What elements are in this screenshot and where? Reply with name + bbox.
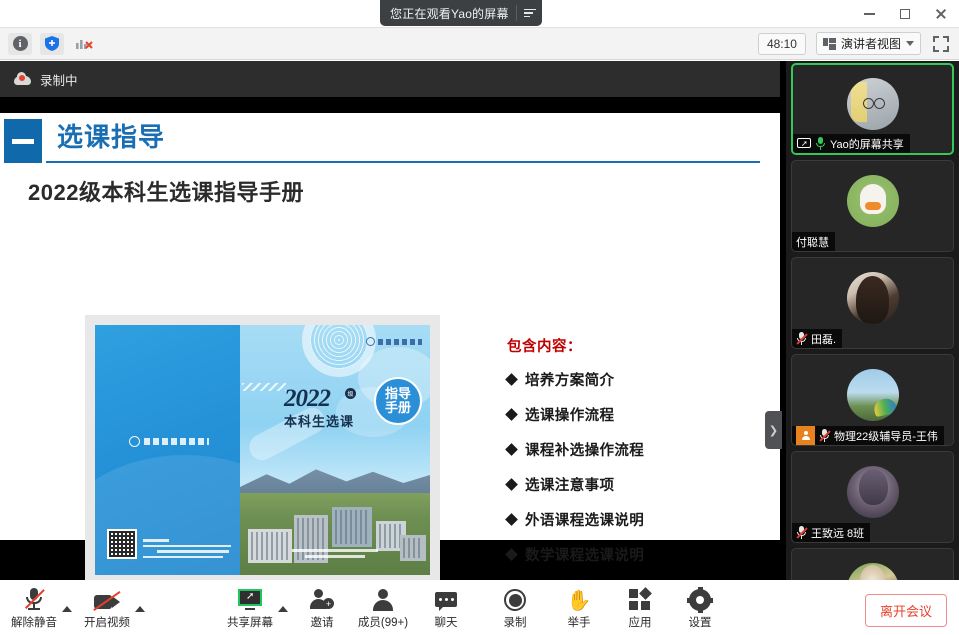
list-menu-icon[interactable]: [524, 9, 536, 18]
list-item-label: 课程补选操作流程: [525, 439, 644, 460]
leave-meeting-button[interactable]: 离开会议: [865, 594, 947, 627]
participants-video-strip[interactable]: ➚ Yao的屏幕共享 付聪慧 田磊.: [786, 61, 959, 580]
cover-year: 2022: [284, 385, 330, 413]
title-rule: [46, 161, 760, 163]
meeting-toolbar: i 48:10 演讲者视图: [0, 28, 959, 60]
divider: [516, 5, 517, 21]
camera-off-icon: [94, 587, 120, 611]
share-screen-icon: ➚: [238, 587, 262, 611]
settings-label: 设置: [689, 614, 712, 630]
share-options-caret-icon[interactable]: [278, 606, 288, 612]
shield-icon: [45, 36, 59, 51]
video-options-caret-icon[interactable]: [135, 606, 145, 612]
microphone-muted-icon: [819, 429, 830, 442]
close-button[interactable]: [923, 0, 959, 28]
participant-tile[interactable]: 付聪慧: [791, 160, 954, 252]
record-button[interactable]: 录制: [483, 587, 547, 630]
participant-name: Yao的屏幕共享: [830, 136, 904, 152]
qr-code-icon: [107, 529, 137, 559]
presentation-slide: 选课指导 2022级本科生选课指导手册: [0, 113, 780, 540]
avatar: [847, 78, 899, 130]
raise-hand-icon: ✋: [567, 587, 592, 611]
university-logo-icon: [129, 435, 209, 447]
view-mode-label: 演讲者视图: [841, 35, 901, 52]
list-item-label: 选课注意事项: [525, 474, 614, 495]
list-item: 培养方案简介: [507, 369, 769, 390]
handbook-cover-image: 2022 级 本科生选课 指导 手册: [85, 315, 440, 585]
avatar: [847, 272, 899, 324]
participant-nametag: 物理22级辅导员-王伟: [792, 426, 944, 445]
list-item: 课程补选操作流程: [507, 439, 769, 460]
participant-tile[interactable]: 王致远 8班: [791, 451, 954, 543]
apps-button[interactable]: 应用: [608, 587, 672, 630]
diamond-bullet-icon: [505, 548, 518, 561]
meeting-controls-bar: 解除静音 开启视频 ➚ 共享屏幕 + 邀请 成员(99: [0, 580, 959, 635]
participant-tile[interactable]: ➚ Yao的屏幕共享: [791, 63, 954, 155]
list-item-label: 数学课程选课说明: [525, 544, 644, 565]
slide-content-list: 包含内容： 培养方案简介 选课操作流程 课程补选操作流程: [507, 335, 769, 614]
meeting-timer: 48:10: [758, 33, 806, 55]
view-mode-selector[interactable]: 演讲者视图: [816, 32, 921, 55]
recording-indicator-bar: 录制中: [0, 61, 780, 97]
microphone-muted-icon: [24, 587, 44, 611]
mute-button-label: 解除静音: [11, 614, 57, 630]
meeting-info-button[interactable]: i: [8, 33, 32, 55]
meeting-body: 录制中 选课指导 2022级本科生选课指导手册: [0, 61, 959, 580]
list-item: 外语课程选课说明: [507, 509, 769, 530]
list-item: 数学课程选课说明: [507, 544, 769, 565]
encryption-button[interactable]: [40, 33, 64, 55]
record-label: 录制: [504, 614, 527, 630]
microphone-muted-icon: [796, 526, 807, 539]
invite-button[interactable]: + 邀请: [290, 587, 354, 630]
participants-label: 成员(99+): [358, 614, 408, 630]
participant-name: 物理22级辅导员-王伟: [834, 428, 938, 444]
slide-header: 选课指导: [0, 113, 780, 165]
cover-badge: 指导 手册: [374, 377, 422, 425]
cover-back: [95, 325, 240, 575]
invite-label: 邀请: [311, 614, 334, 630]
mute-button[interactable]: 解除静音: [2, 587, 66, 630]
diamond-bullet-icon: [505, 408, 518, 421]
list-item-label: 培养方案简介: [525, 369, 614, 390]
fullscreen-button[interactable]: [933, 36, 949, 52]
shared-screen-area[interactable]: 选课指导 2022级本科生选课指导手册: [0, 97, 780, 580]
diamond-bullet-icon: [505, 513, 518, 526]
close-icon: [935, 8, 947, 20]
maximize-button[interactable]: [887, 0, 923, 28]
minimize-icon: [864, 13, 875, 15]
participant-name: 付聪慧: [796, 234, 829, 250]
avatar: [847, 369, 899, 421]
chevron-down-icon: [906, 41, 914, 46]
cover-badge-line2: 手册: [385, 401, 411, 415]
raise-hand-label: 举手: [568, 614, 591, 630]
content-heading: 包含内容：: [507, 335, 769, 356]
cover-year-sup: 级: [345, 388, 356, 399]
chat-label: 聊天: [435, 614, 458, 630]
cover-campus-photo: [240, 493, 430, 575]
blocked-content-button[interactable]: [72, 33, 96, 55]
handbook-cover: 2022 级 本科生选课 指导 手册: [95, 325, 430, 575]
participants-icon: [372, 587, 394, 611]
raise-hand-button[interactable]: ✋ 举手: [547, 587, 611, 630]
audio-options-caret-icon[interactable]: [62, 606, 72, 612]
screen-share-notice-text: 您正在观看Yao的屏幕: [390, 5, 509, 22]
layout-icon: [823, 38, 836, 50]
zoom-meeting-window: 您正在观看Yao的屏幕 i: [0, 0, 959, 635]
microphone-muted-icon: [796, 332, 807, 345]
chat-icon: [435, 587, 457, 611]
list-item: 选课注意事项: [507, 474, 769, 495]
participants-button[interactable]: 成员(99+): [351, 587, 415, 630]
toolbar-right-group: 48:10 演讲者视图: [758, 32, 959, 55]
diamond-bullet-icon: [505, 373, 518, 386]
settings-gear-icon: [689, 587, 711, 611]
slide-subtitle: 2022级本科生选课指导手册: [28, 175, 304, 207]
slide-title: 选课指导: [57, 117, 165, 154]
record-icon: [504, 587, 526, 611]
participant-tile[interactable]: 田磊.: [791, 257, 954, 349]
settings-button[interactable]: 设置: [668, 587, 732, 630]
cover-contact-text: [143, 539, 231, 561]
invite-icon: +: [310, 587, 334, 611]
participant-nametag: ➚ Yao的屏幕共享: [793, 134, 910, 153]
participant-nametag: 田磊.: [792, 329, 842, 348]
info-icon: i: [13, 36, 28, 51]
chat-button[interactable]: 聊天: [414, 587, 478, 630]
fullscreen-icon-corner: [933, 36, 939, 42]
avatar: [847, 175, 899, 227]
dash-square-icon: [4, 119, 42, 163]
apps-icon: [629, 587, 651, 611]
cloud-record-icon: [14, 73, 31, 85]
recording-label: 录制中: [40, 70, 78, 89]
cover-front: 2022 级 本科生选课 指导 手册: [240, 325, 430, 575]
share-screen-button[interactable]: ➚ 共享屏幕: [218, 587, 282, 630]
fullscreen-icon-corner: [943, 46, 949, 52]
list-item-label: 外语课程选课说明: [525, 509, 644, 530]
diamond-bullet-icon: [505, 478, 518, 491]
diamond-bullet-icon: [505, 443, 518, 456]
screen-share-notice[interactable]: 您正在观看Yao的屏幕: [380, 0, 542, 26]
fullscreen-icon-corner: [943, 36, 949, 42]
apps-label: 应用: [629, 614, 652, 630]
participant-name: 田磊.: [811, 331, 836, 347]
cover-subtitle: 本科生选课: [284, 411, 354, 430]
participant-tile[interactable]: 物理22级辅导员-王伟: [791, 354, 954, 446]
cover-badge-line1: 指导: [385, 387, 411, 401]
host-badge-icon: [796, 426, 815, 445]
university-logo-icon: [366, 337, 422, 346]
microphone-on-icon: [815, 137, 826, 150]
participant-nametag: 付聪慧: [792, 232, 835, 251]
blocked-content-icon: [76, 36, 93, 51]
start-video-button[interactable]: 开启视频: [75, 587, 139, 630]
participant-nametag: 王致远 8班: [792, 523, 870, 542]
list-item: 选课操作流程: [507, 404, 769, 425]
window-titlebar: 您正在观看Yao的屏幕: [0, 0, 959, 28]
share-screen-label: 共享屏幕: [227, 614, 273, 630]
collapse-panel-handle[interactable]: ❯: [765, 411, 782, 449]
minimize-button[interactable]: [851, 0, 887, 28]
participant-name: 王致远 8班: [811, 525, 864, 541]
share-screen-icon: ➚: [797, 138, 811, 150]
avatar: [847, 466, 899, 518]
start-video-label: 开启视频: [84, 614, 130, 630]
list-item-label: 选课操作流程: [525, 404, 614, 425]
maximize-icon: [900, 9, 910, 19]
fullscreen-icon-corner: [933, 46, 939, 52]
